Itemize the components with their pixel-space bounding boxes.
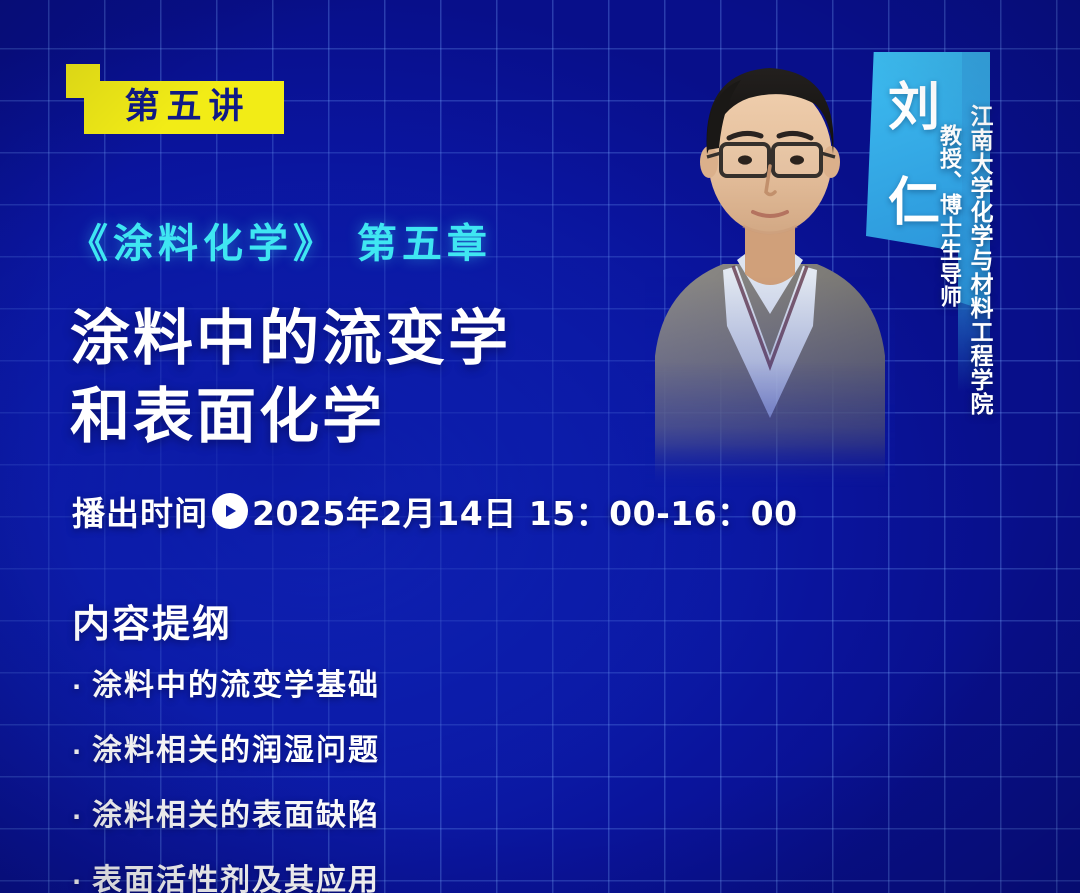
broadcast-time: 播出时间 2025年2月14日 15：00-16：00 <box>72 487 798 535</box>
bullet-icon: · <box>72 805 92 829</box>
list-item-label: 涂料中的流变学基础 <box>92 660 380 704</box>
list-item: · 涂料相关的表面缺陷 <box>72 790 592 834</box>
play-icon <box>212 493 248 529</box>
broadcast-time-value: 2025年2月14日 15：00-16：00 <box>252 487 798 535</box>
lesson-number-tag: 第五讲 <box>66 64 284 134</box>
page-title: 涂料中的流变学 和表面化学 <box>70 300 690 456</box>
bullet-icon: · <box>72 740 92 764</box>
bullet-icon: · <box>72 675 92 699</box>
list-item-label: 涂料相关的润湿问题 <box>92 725 380 769</box>
page-title-line-2: 和表面化学 <box>70 378 690 456</box>
list-item: · 表面活性剂及其应用 <box>72 855 592 893</box>
lecture-poster: 刘 仁 教授、博士生导师 江南大学化学与材料工程学院 第五讲 《涂料化学》 第五… <box>0 0 1080 893</box>
speaker-badge: 刘 仁 教授、博士生导师 江南大学化学与材料工程学院 <box>862 52 1078 452</box>
list-item: · 涂料中的流变学基础 <box>72 660 592 704</box>
bullet-icon: · <box>72 870 92 893</box>
list-item-label: 表面活性剂及其应用 <box>92 855 380 893</box>
list-item: · 涂料相关的润湿问题 <box>72 725 592 769</box>
page-title-line-1: 涂料中的流变学 <box>70 300 690 378</box>
lesson-tag-box: 第五讲 <box>84 81 284 134</box>
broadcast-time-label: 播出时间 <box>72 487 208 535</box>
outline-heading: 内容提纲 <box>72 593 232 648</box>
speaker-affiliation: 江南大学化学与材料工程学院 <box>962 104 996 424</box>
list-item-label: 涂料相关的表面缺陷 <box>92 790 380 834</box>
speaker-role: 教授、博士生导师 <box>932 124 964 374</box>
course-subtitle: 《涂料化学》 第五章 <box>68 211 492 269</box>
lesson-tag-label: 第五讲 <box>117 90 250 125</box>
outline-list: · 涂料中的流变学基础 · 涂料相关的润湿问题 · 涂料相关的表面缺陷 · 表面… <box>72 660 592 893</box>
